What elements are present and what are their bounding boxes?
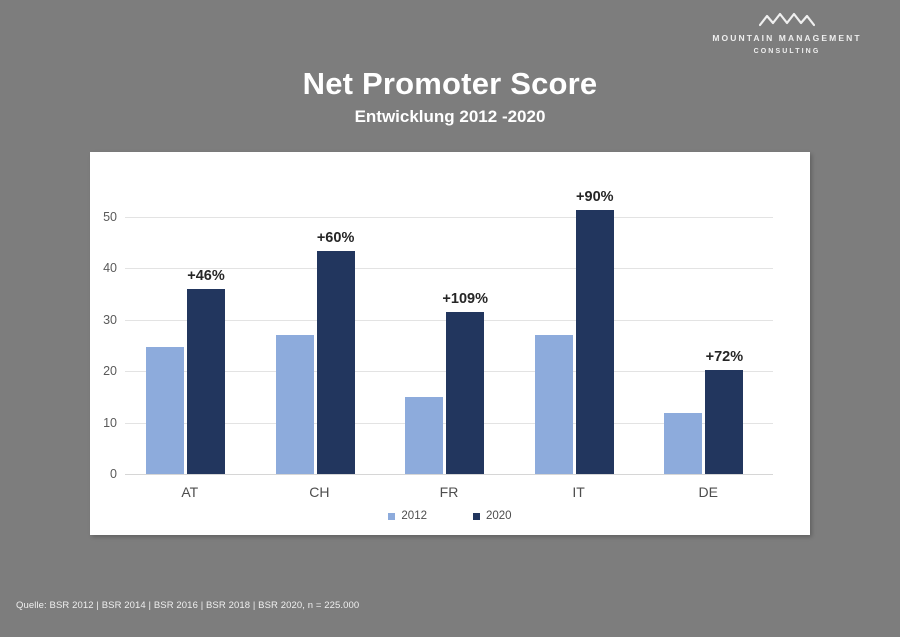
- y-axis-tick-label: 50: [103, 210, 117, 224]
- y-axis-tick-label: 30: [103, 313, 117, 327]
- chart-legend: 20122020: [90, 510, 810, 522]
- bar-it-2020[interactable]: +90%: [576, 210, 614, 474]
- brand-name: MOUNTAIN MANAGEMENT: [692, 33, 882, 44]
- bar-ch-2012[interactable]: [276, 335, 314, 474]
- x-axis-tick-label-fr: FR: [384, 484, 514, 500]
- brand-subname: CONSULTING: [692, 46, 882, 57]
- legend-label-2020: 2020: [486, 510, 512, 522]
- legend-item-2020[interactable]: 2020: [473, 510, 512, 522]
- legend-swatch-2012: [388, 513, 395, 520]
- bar-de-2020[interactable]: +72%: [705, 370, 743, 474]
- gridline: 0: [125, 474, 773, 475]
- legend-label-2012: 2012: [401, 510, 427, 522]
- mountain-icon: [759, 12, 815, 28]
- y-axis-tick-label: 20: [103, 364, 117, 378]
- x-axis-tick-label-it: IT: [514, 484, 644, 500]
- page-subtitle: Entwicklung 2012 -2020: [0, 106, 900, 128]
- brand-logo: MOUNTAIN MANAGEMENT CONSULTING: [692, 12, 882, 57]
- bar-group-fr: +109%FR: [384, 191, 514, 474]
- legend-swatch-2020: [473, 513, 480, 520]
- bar-value-label-de: +72%: [706, 349, 744, 365]
- bar-group-at: +46%AT: [125, 191, 255, 474]
- bar-group-de: +72%DE: [643, 191, 773, 474]
- bar-de-2012[interactable]: [664, 413, 702, 474]
- y-axis-tick-label: 0: [110, 467, 117, 481]
- title-block: Net Promoter Score Entwicklung 2012 -202…: [0, 66, 900, 128]
- source-note: Quelle: BSR 2012 | BSR 2014 | BSR 2016 |…: [16, 600, 359, 611]
- page-title: Net Promoter Score: [0, 66, 900, 102]
- y-axis-tick-label: 40: [103, 261, 117, 275]
- x-axis-tick-label-ch: CH: [255, 484, 385, 500]
- bar-value-label-it: +90%: [576, 189, 614, 205]
- legend-item-2012[interactable]: 2012: [388, 510, 427, 522]
- bar-at-2020[interactable]: +46%: [187, 289, 225, 474]
- bar-at-2012[interactable]: [146, 347, 184, 474]
- x-axis-tick-label-de: DE: [643, 484, 773, 500]
- bar-value-label-fr: +109%: [442, 291, 488, 307]
- bar-value-label-ch: +60%: [317, 230, 355, 246]
- y-axis-tick-label: 10: [103, 416, 117, 430]
- bar-it-2012[interactable]: [535, 335, 573, 474]
- x-axis-tick-label-at: AT: [125, 484, 255, 500]
- bar-value-label-at: +46%: [187, 268, 225, 284]
- chart-panel: 01020304050 +46%AT+60%CH+109%FR+90%IT+72…: [90, 152, 810, 535]
- plot-area: 01020304050 +46%AT+60%CH+109%FR+90%IT+72…: [125, 191, 773, 474]
- bar-ch-2020[interactable]: +60%: [317, 251, 355, 474]
- bar-fr-2020[interactable]: +109%: [446, 312, 484, 474]
- bar-group-it: +90%IT: [514, 191, 644, 474]
- bar-fr-2012[interactable]: [405, 397, 443, 474]
- bar-group-ch: +60%CH: [255, 191, 385, 474]
